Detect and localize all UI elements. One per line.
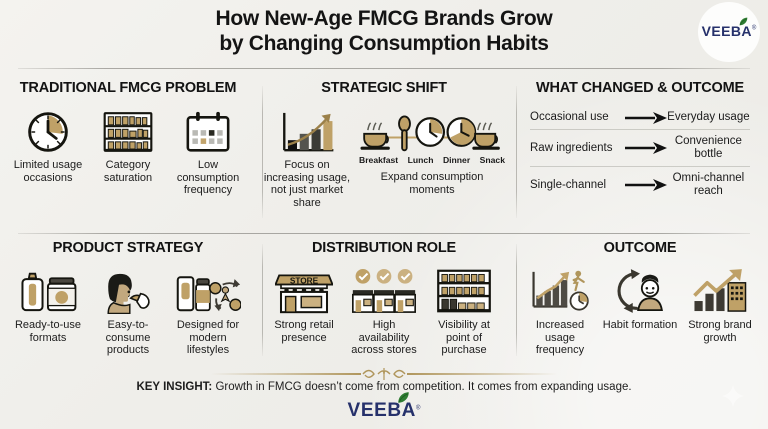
item-caption: Category saturation [90,159,166,184]
item-caption: Habit formation [602,319,678,332]
item-habit-formation: Habit formation [600,268,680,332]
item-visibility-at-point-of-purchase: Visibility at point of purchase [424,268,504,357]
leaf-icon [738,16,749,27]
section-title-distribution: DISTRIBUTION ROLE [264,240,504,256]
leaf-icon [396,390,411,405]
brand-logo-badge: VEEBA® [698,2,760,62]
key-insight-text: Growth in FMCG doesn’t come from competi… [212,381,631,393]
item-caption: Visibility at point of purchase [426,319,502,357]
item-category-saturation: Category saturation [88,108,168,184]
what-changed-row-2: Raw ingredients Convenience bottle [526,130,754,166]
item-limited-usage-occasions: Limited usage occasions [8,108,88,184]
product-shelf-icon [426,268,502,314]
item-caption: Ready-to-use formats [10,319,86,344]
row-from-label: Occasional use [530,111,625,124]
key-insight: KEY INSIGHT: Growth in FMCG doesn’t come… [0,381,768,393]
item-low-consumption-frequency: Low consumption frequency [168,108,248,197]
page-title: How New-Age FMCG Brands Grow by Changing… [0,6,768,56]
row-divider [18,233,750,234]
item-caption: Easy-to-consume products [90,319,166,357]
brand-logo-trademark: ® [752,26,756,32]
section-what-changed-and-outcome: WHAT CHANGED & OUTCOME Occasional use Ev… [512,80,768,209]
moment-label-lunch: Lunch [408,155,434,165]
page-title-line2: by Changing Consumption Habits [90,31,678,56]
item-expand-consumption-moments: Breakfast Lunch Dinner Snack Expand cons… [355,108,509,196]
infographic-page: How New-Age FMCG Brands Grow by Changing… [0,0,768,429]
usage-frequency-chart-icon [522,268,598,314]
page-title-line1: How New-Age FMCG Brands Grow [90,6,678,31]
row-to-label: Convenience bottle [667,135,751,161]
multiple-stores-check-icon [346,268,422,314]
item-caption: Expand consumption moments [357,171,507,196]
section-title-product-strategy: PRODUCT STRATEGY [8,240,248,256]
bottom-row: PRODUCT STRATEGY Rea [0,240,768,357]
ornament-divider [0,367,768,381]
item-high-availability-across-stores: High availability across stores [344,268,424,357]
column-divider-2 [516,86,517,218]
item-caption: Limited usage occasions [10,159,86,184]
consumption-moments-icon [357,108,507,154]
storefront-icon: STORE [266,268,342,314]
section-product-strategy: PRODUCT STRATEGY Rea [0,240,256,357]
calendar-icon [170,108,246,154]
moment-label-dinner: Dinner [443,155,470,165]
column-divider-1 [262,86,263,218]
what-changed-row-3: Single-channel Omni-channel reach [526,167,754,203]
person-eating-icon [90,268,166,314]
item-ready-to-use-formats: Ready-to-use formats [8,268,88,344]
item-caption: Low consumption frequency [170,159,246,197]
moment-label-snack: Snack [480,155,505,165]
row-to-label: Omni-channel reach [667,172,751,198]
moment-label-breakfast: Breakfast [359,155,398,165]
brand-growth-arrow-icon [682,268,758,314]
item-strong-retail-presence: STORE Strong retail presence [264,268,344,344]
modern-lifestyle-icon [170,268,246,314]
section-outcome: OUTCOME [512,240,768,357]
clock-icon [10,108,86,154]
squeeze-bottle-jar-icon [10,268,86,314]
ornament-bar-right [407,373,557,375]
habit-loop-icon [602,268,678,314]
row-to-label: Everyday usage [667,111,751,124]
sparkle-icon [722,385,744,407]
section-distribution-role: DISTRIBUTION ROLE STORE [256,240,512,357]
footer-logo-trademark: ® [416,406,420,412]
top-row: TRADITIONAL FMCG PROBLEM [0,80,768,209]
arrow-right-icon [625,179,667,191]
header-divider [18,68,750,69]
item-focus-on-increasing-usage: Focus on increasing usage, not just mark… [259,108,355,209]
section-title-what-changed: WHAT CHANGED & OUTCOME [520,80,760,96]
ornament-bar-left [211,373,361,375]
item-caption: Strong retail presence [266,319,342,344]
header: How New-Age FMCG Brands Grow by Changing… [0,0,768,66]
item-caption: Focus on increasing usage, not just mark… [261,159,353,209]
section-title-strategic: STRATEGIC SHIFT [264,80,504,96]
item-caption: Strong brand growth [682,319,758,344]
arrow-right-icon [625,142,667,154]
column-divider-3 [262,244,263,356]
section-title-outcome: OUTCOME [520,240,760,256]
item-caption: Increased usage frequency [522,319,598,357]
row-from-label: Single-channel [530,179,625,192]
item-easy-to-consume-products: Easy-to-consume products [88,268,168,357]
section-traditional-fmcg-problem: TRADITIONAL FMCG PROBLEM [0,80,256,209]
what-changed-row-1: Occasional use Everyday usage [526,106,754,129]
item-strong-brand-growth: Strong brand growth [680,268,760,344]
footer-logo: VEEBA® [0,400,768,422]
flourish-icon [361,367,407,381]
row-from-label: Raw ingredients [530,142,625,155]
key-insight-label: KEY INSIGHT: [136,381,212,393]
arrow-right-icon [625,112,667,124]
item-caption: High availability across stores [346,319,422,357]
item-designed-for-modern-lifestyles: Designed for modern lifestyles [168,268,248,357]
item-caption: Designed for modern lifestyles [170,319,246,357]
section-title-traditional: TRADITIONAL FMCG PROBLEM [8,80,248,96]
growth-bar-chart-icon [261,108,353,154]
shelf-jars-icon [90,108,166,154]
column-divider-4 [516,244,517,356]
item-increased-usage-frequency: Increased usage frequency [520,268,600,357]
section-strategic-shift: STRATEGIC SHIFT [256,80,512,209]
